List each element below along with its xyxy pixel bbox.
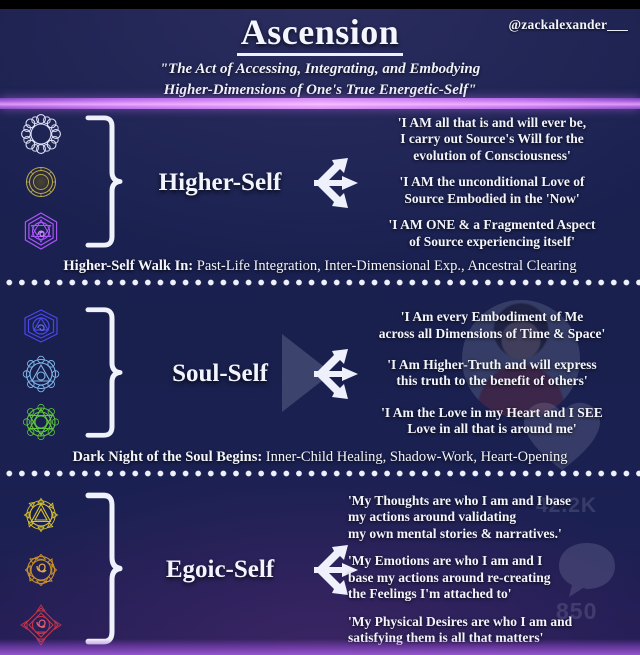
- label-soul-self: Soul-Self: [130, 360, 310, 388]
- poster-header: @zackalexander___ Ascension "The Act of …: [0, 9, 640, 98]
- statements-egoic-self: 'My Thoughts are who I am and I basemy a…: [348, 487, 636, 652]
- section-higher-self: Higher-Self 'I AM all that is and will e…: [0, 110, 640, 255]
- label-egoic-self: Egoic-Self: [130, 556, 310, 584]
- throat-chakra-icon: [17, 350, 65, 398]
- divider-dark-night-of-the-soul: Dark Night of the Soul Begins: Inner-Chi…: [0, 449, 640, 478]
- statement-egoic-1: 'My Thoughts are who I am and I basemy a…: [348, 493, 636, 543]
- subtitle-line-1: "The Act of Accessing, Integrating, and …: [0, 59, 640, 80]
- solar-plexus-chakra-icon: [17, 491, 65, 539]
- divider-1-heading: Higher-Self Walk In:: [63, 258, 193, 274]
- third-eye-chakra-icon: [17, 207, 65, 255]
- divider-2-heading: Dark Night of the Soul Begins:: [72, 449, 262, 465]
- divider-1-dots: [0, 278, 640, 287]
- page-subtitle: "The Act of Accessing, Integrating, and …: [0, 59, 640, 101]
- section-soul-self: Soul-Self 'I Am every Embodiment of Meac…: [0, 302, 640, 445]
- divider-2-text: Dark Night of the Soul Begins: Inner-Chi…: [0, 449, 640, 466]
- section-egoic-self: Egoic-Self 'My Thoughts are who I am and…: [0, 487, 640, 652]
- divider-1-detail: Past-Life Integration, Inter-Dimensional…: [193, 258, 576, 274]
- upper-throat-chakra-icon: [17, 302, 65, 350]
- sacral-chakra-icon: [17, 546, 65, 594]
- statements-soul-self: 'I Am every Embodiment of Meacross all D…: [348, 302, 636, 445]
- accent-divider-bar: [0, 98, 640, 109]
- statement-higher-2: 'I AM the unconditional Love ofSource Em…: [348, 174, 636, 207]
- root-chakra-icon: [17, 601, 65, 649]
- page-title: Ascension: [0, 11, 640, 53]
- ascension-infographic: @zackalexander___ Ascension "The Act of …: [0, 0, 640, 655]
- divider-higher-self-walk-in: Higher-Self Walk In: Past-Life Integrati…: [0, 258, 640, 287]
- brace-soul-self: [82, 306, 124, 439]
- heart-chakra-icon: [17, 398, 65, 446]
- brace-egoic-self: [82, 491, 124, 646]
- brace-higher-self: [82, 114, 124, 249]
- statement-egoic-2: 'My Emotions are who I am and Ibase my a…: [348, 553, 636, 603]
- chakra-column-soul-self: [14, 302, 68, 445]
- statements-higher-self: 'I AM all that is and will ever be,I car…: [348, 110, 636, 255]
- divider-2-dots: [0, 469, 640, 478]
- page-title-text: Ascension: [237, 12, 404, 56]
- statement-soul-1: 'I Am every Embodiment of Meacross all D…: [348, 309, 636, 342]
- soul-star-chakra-icon: [17, 158, 65, 206]
- chakra-column-higher-self: [14, 110, 68, 255]
- top-letterbox: [0, 0, 640, 9]
- crown-chakra-icon: [17, 110, 65, 158]
- statement-higher-3: 'I AM ONE & a Fragmented Aspectof Source…: [348, 217, 636, 250]
- chakra-column-egoic-self: [14, 487, 68, 652]
- statement-soul-3: 'I Am the Love in my Heart and I SEELove…: [348, 405, 636, 438]
- statement-egoic-3: 'My Physical Desires are who I am andsat…: [348, 614, 636, 647]
- divider-1-text: Higher-Self Walk In: Past-Life Integrati…: [0, 258, 640, 275]
- statement-soul-2: 'I Am Higher-Truth and will expressthis …: [348, 357, 636, 390]
- label-higher-self: Higher-Self: [130, 169, 310, 197]
- statement-higher-1: 'I AM all that is and will ever be,I car…: [348, 115, 636, 165]
- divider-2-detail: Inner-Child Healing, Shadow-Work, Heart-…: [262, 449, 567, 465]
